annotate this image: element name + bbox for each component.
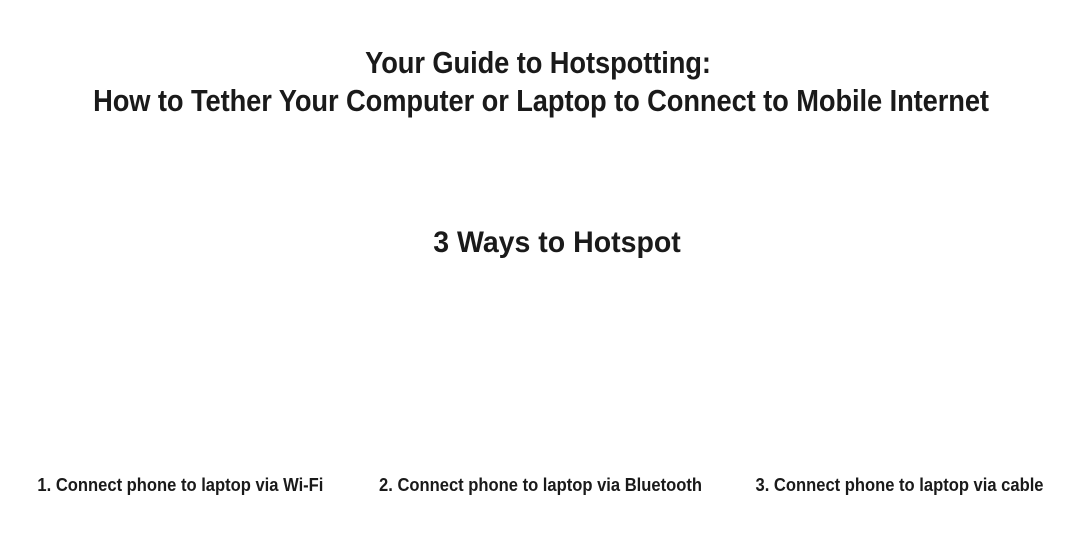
- phone-to-laptop-cable-illustration: [720, 290, 1080, 474]
- section-heading: 3 Ways to Hotspot: [44, 224, 1070, 262]
- page-title: Your Guide to Hotspotting: How to Tether…: [0, 44, 1080, 120]
- step-column-3: 3. Connect phone to laptop via cable: [720, 290, 1080, 515]
- step-column-2: 2. Connect phone to laptop via Bluetooth: [360, 290, 720, 515]
- step-column-1: 1. Connect phone to laptop via Wi-Fi: [0, 290, 360, 515]
- phone-to-laptop-wifi-illustration: [0, 290, 360, 474]
- steps-row: 1. Connect phone to laptop via Wi-Fi 2. …: [0, 290, 1080, 515]
- page-title-line-1: Your Guide to Hotspotting:: [61, 44, 1015, 82]
- step-caption-3: 3. Connect phone to laptop via cable: [756, 474, 1044, 515]
- page-title-line-2: How to Tether Your Computer or Laptop to…: [67, 82, 1016, 120]
- step-caption-2: 2. Connect phone to laptop via Bluetooth: [379, 474, 702, 515]
- phone-to-laptop-bluetooth-illustration: [360, 290, 720, 474]
- step-caption-1: 1. Connect phone to laptop via Wi-Fi: [37, 474, 323, 515]
- infographic-page: Your Guide to Hotspotting: How to Tether…: [0, 0, 1080, 552]
